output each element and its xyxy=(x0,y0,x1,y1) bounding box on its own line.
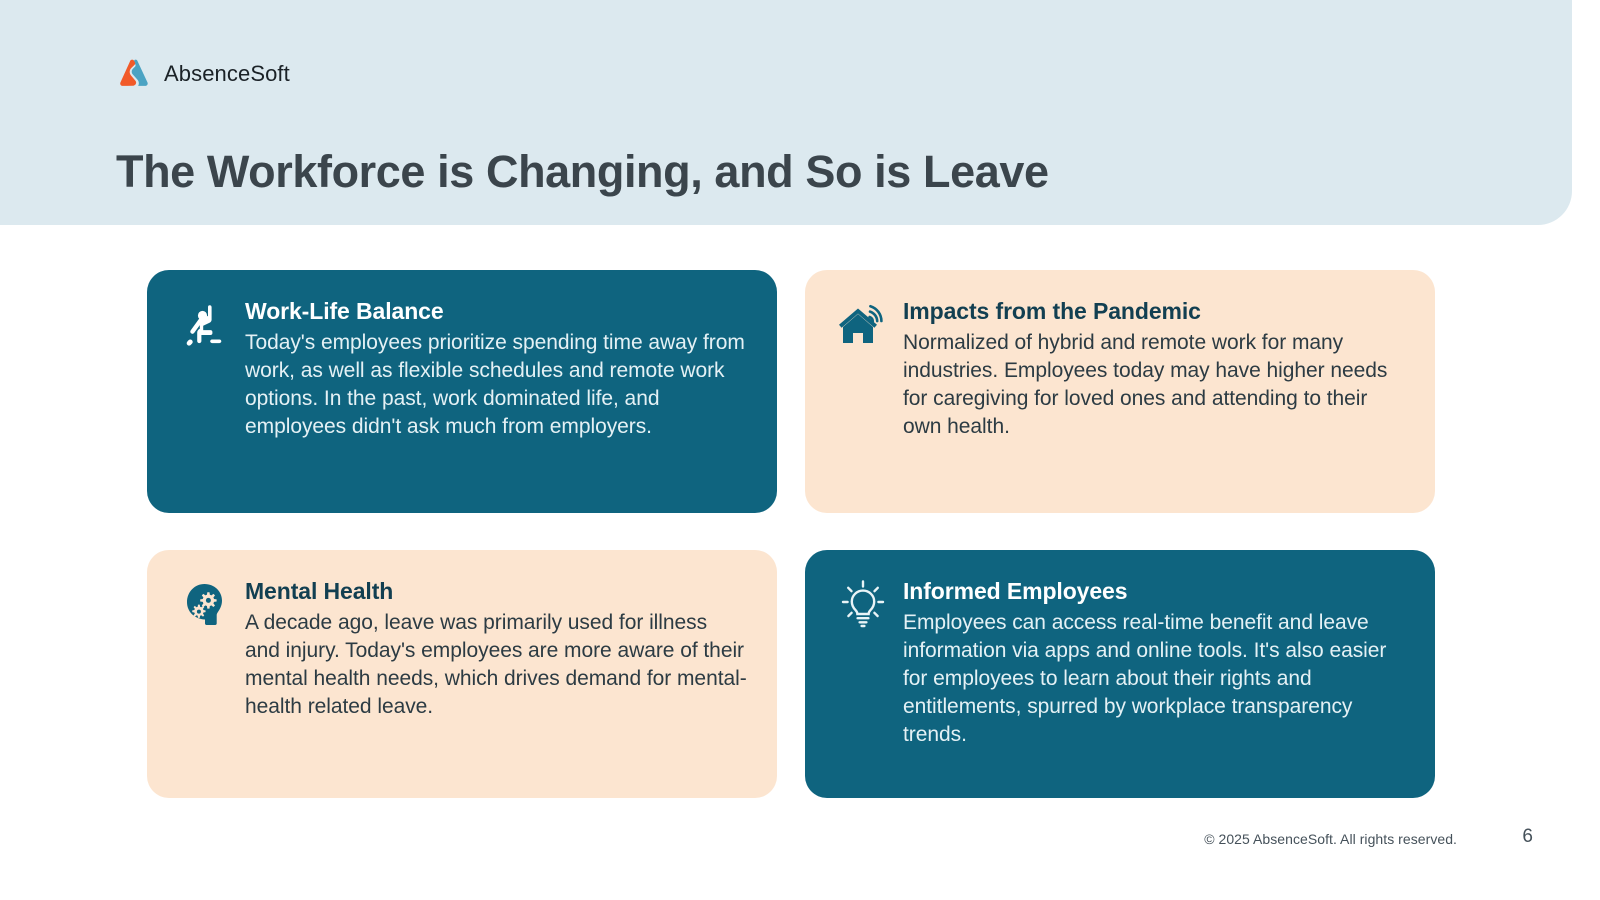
card-title: Work-Life Balance xyxy=(245,297,747,326)
home-wifi-icon xyxy=(837,298,889,350)
brand-name: AbsenceSoft xyxy=(164,63,290,85)
card-impacts-from-the-pandemic[interactable]: Impacts from the Pandemic Normalized of … xyxy=(805,270,1435,513)
absencesoft-logo-icon xyxy=(116,56,152,92)
card-text: Employees can access real-time benefit a… xyxy=(903,609,1405,750)
card-body: Mental Health A decade ago, leave was pr… xyxy=(245,576,747,721)
brand-lockup: AbsenceSoft xyxy=(116,56,290,92)
card-title: Informed Employees xyxy=(903,577,1405,606)
head-gears-icon xyxy=(179,578,231,630)
card-body: Impacts from the Pandemic Normalized of … xyxy=(903,296,1405,441)
card-work-life-balance[interactable]: Work-Life Balance Today's employees prio… xyxy=(147,270,777,513)
card-title: Impacts from the Pandemic xyxy=(903,297,1405,326)
page-title: The Workforce is Changing, and So is Lea… xyxy=(116,144,1049,200)
card-text: A decade ago, leave was primarily used f… xyxy=(245,609,747,722)
yoga-stretch-person-icon xyxy=(179,298,231,350)
card-body: Work-Life Balance Today's employees prio… xyxy=(245,296,747,441)
cards-grid: Work-Life Balance Today's employees prio… xyxy=(147,270,1435,798)
card-title: Mental Health xyxy=(245,577,747,606)
lightbulb-idea-icon xyxy=(837,578,889,630)
card-text: Normalized of hybrid and remote work for… xyxy=(903,329,1405,442)
card-body: Informed Employees Employees can access … xyxy=(903,576,1405,749)
footer-copyright: © 2025 AbsenceSoft. All rights reserved. xyxy=(1204,831,1457,847)
card-informed-employees[interactable]: Informed Employees Employees can access … xyxy=(805,550,1435,798)
page-number: 6 xyxy=(1522,826,1533,848)
card-mental-health[interactable]: Mental Health A decade ago, leave was pr… xyxy=(147,550,777,798)
card-text: Today's employees prioritize spending ti… xyxy=(245,329,747,442)
